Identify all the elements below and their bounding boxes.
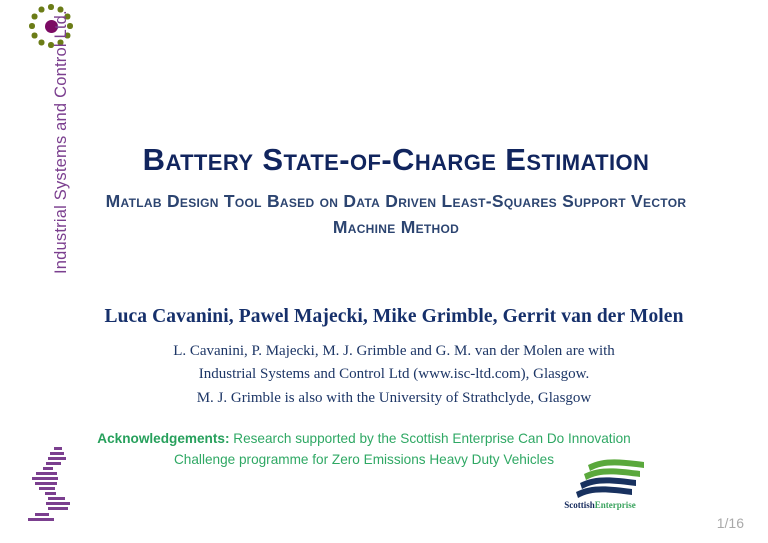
logo-ring-dot-icon [32, 14, 37, 19]
author-list: Luca Cavanini, Pawel Majecki, Mike Grimb… [64, 306, 724, 328]
scottish-enterprise-wordmark: ScottishEnterprise [552, 500, 648, 510]
affiliation-block: L. Cavanini, P. Majecki, M. J. Grimble a… [124, 340, 664, 410]
affiliation-line: Industrial Systems and Control Ltd (www.… [124, 363, 664, 386]
vertical-company-name: Industrial Systems and Control Ltd. [44, 0, 78, 274]
affiliation-line: M. J. Grimble is also with the Universit… [124, 387, 664, 410]
logo-ring-dot-icon [32, 33, 37, 38]
decorative-bar-graphic [26, 447, 78, 525]
page-number: 1/16 [717, 515, 744, 531]
scottish-enterprise-swoosh-icon [558, 459, 648, 501]
acknowledgements-label: Acknowledgements: [97, 431, 229, 446]
logo-ring-dot-icon [29, 23, 34, 28]
sponsor-word-secondary: Enterprise [595, 500, 636, 510]
affiliation-line: L. Cavanini, P. Majecki, M. J. Grimble a… [124, 340, 664, 363]
page-title: Battery State-of-Charge Estimation [86, 143, 706, 178]
scottish-enterprise-logo: ScottishEnterprise [552, 459, 648, 517]
sponsor-word-primary: Scottish [564, 500, 595, 510]
presentation-slide: Industrial Systems and Control Ltd. Batt… [0, 0, 768, 543]
page-subtitle: Matlab Design Tool Based on Data Driven … [86, 188, 706, 241]
